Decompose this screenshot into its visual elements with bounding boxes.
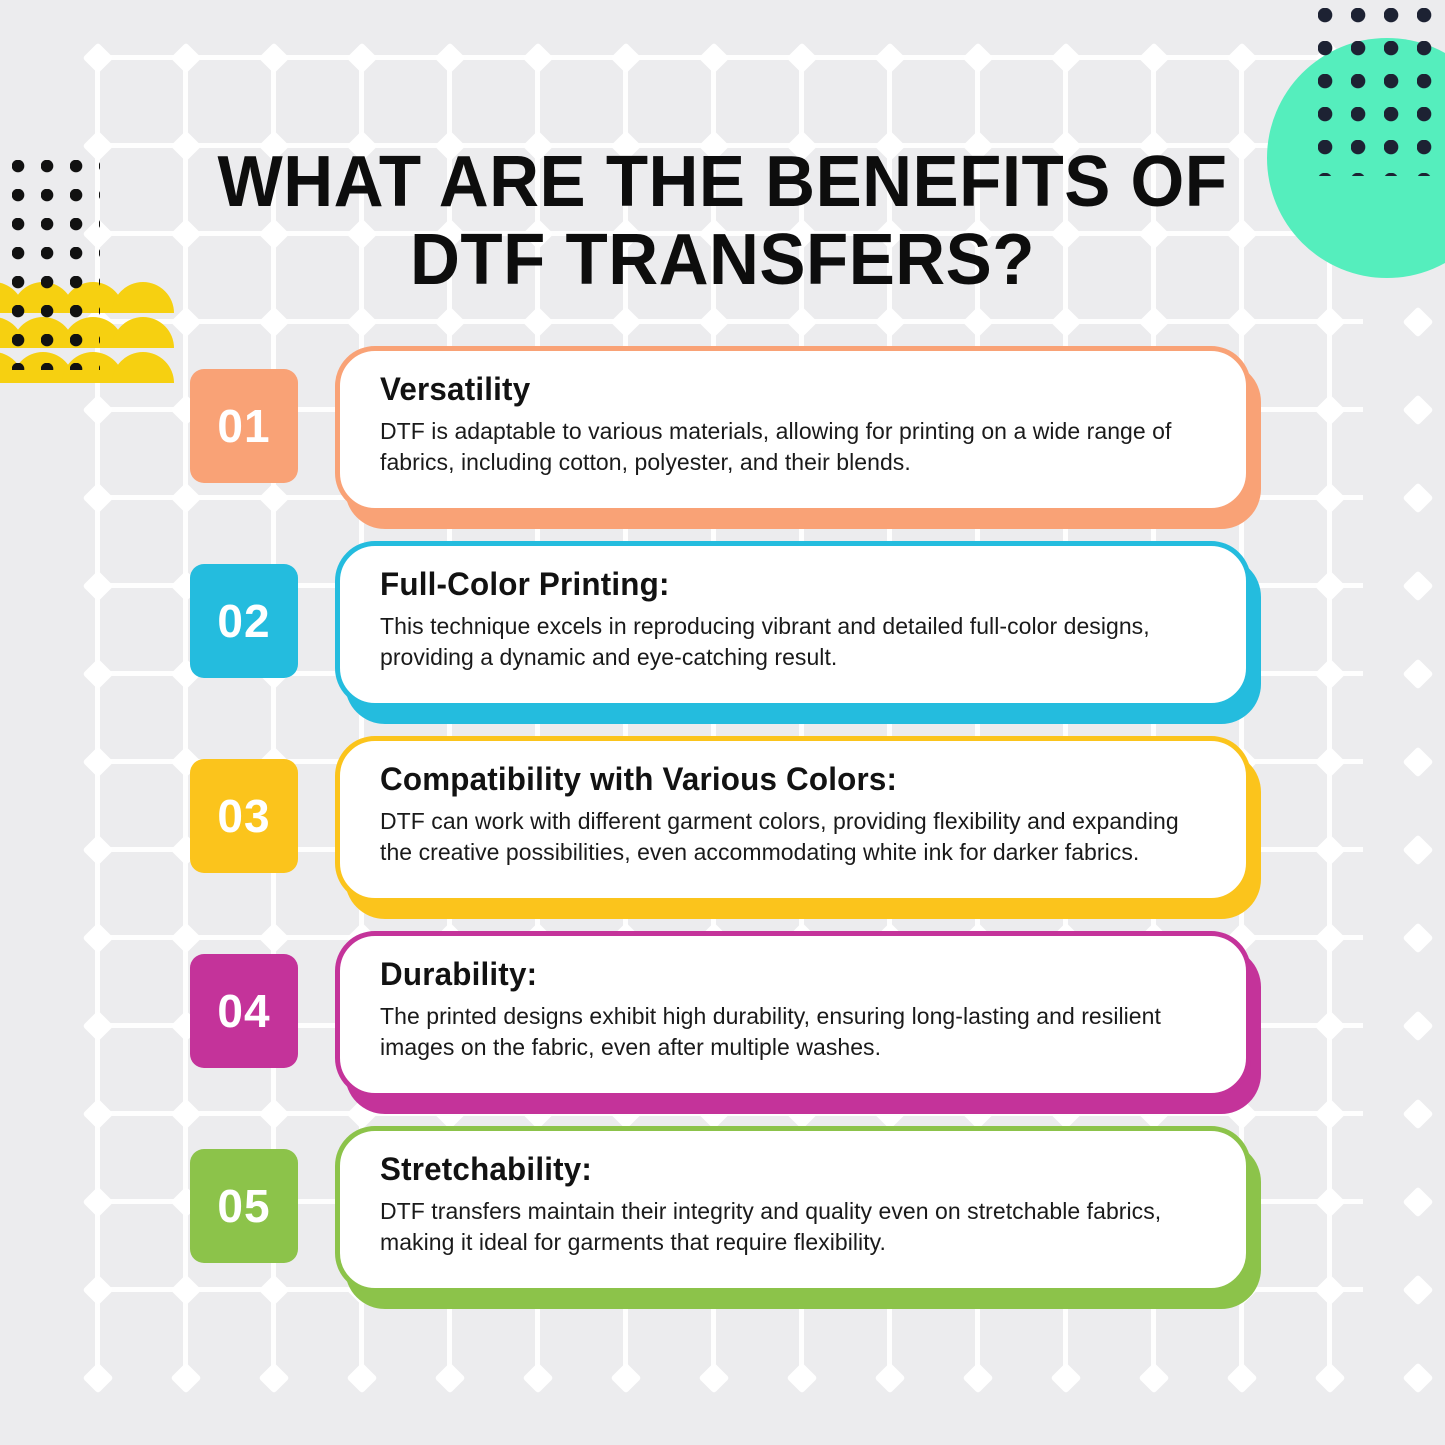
grid-node-diamond	[698, 1362, 729, 1393]
benefit-heading: Durability:	[380, 956, 1195, 993]
grid-node-diamond	[434, 1362, 465, 1393]
benefit-heading: Versatility	[380, 371, 1195, 408]
benefit-heading: Full-Color Printing:	[380, 566, 1195, 603]
grid-node-diamond	[1314, 1362, 1345, 1393]
dome-shape	[112, 282, 174, 313]
grid-node-diamond	[1402, 306, 1433, 337]
benefit-row: 03Compatibility with Various Colors:DTF …	[0, 730, 1445, 925]
grid-node-diamond	[82, 1362, 113, 1393]
grid-node-diamond	[522, 306, 553, 337]
benefit-row: 05Stretchability:DTF transfers maintain …	[0, 1120, 1445, 1315]
grid-node-diamond	[1050, 42, 1081, 73]
grid-node-diamond	[962, 306, 993, 337]
grid-node-diamond	[170, 1362, 201, 1393]
grid-node-diamond	[610, 306, 641, 337]
grid-node-diamond	[874, 42, 905, 73]
benefit-number-badge: 02	[190, 564, 298, 678]
benefit-number-badge: 01	[190, 369, 298, 483]
grid-node-diamond	[874, 1362, 905, 1393]
dot-grid-top-right-decoration	[1318, 8, 1445, 176]
grid-node-diamond	[1314, 306, 1345, 337]
grid-node-diamond	[610, 42, 641, 73]
benefit-row: 04Durability:The printed designs exhibit…	[0, 925, 1445, 1120]
benefit-body: DTF transfers maintain their integrity a…	[380, 1196, 1212, 1258]
benefit-card: Stretchability:DTF transfers maintain th…	[335, 1126, 1251, 1293]
benefit-heading: Compatibility with Various Colors:	[380, 761, 1195, 798]
grid-node-diamond	[1226, 306, 1257, 337]
grid-node-diamond	[610, 1362, 641, 1393]
benefit-body: DTF can work with different garment colo…	[380, 806, 1212, 868]
benefit-number-badge: 03	[190, 759, 298, 873]
grid-node-diamond	[1402, 1362, 1433, 1393]
benefits-list: 01VersatilityDTF is adaptable to various…	[0, 340, 1445, 1315]
benefit-number-badge: 04	[190, 954, 298, 1068]
benefit-body: This technique excels in reproducing vib…	[380, 611, 1212, 673]
page-title: WHAT ARE THE BENEFITS OF DTF TRANSFERS?	[197, 143, 1248, 299]
grid-node-diamond	[346, 42, 377, 73]
grid-node-diamond	[962, 1362, 993, 1393]
infographic-poster: WHAT ARE THE BENEFITS OF DTF TRANSFERS? …	[0, 0, 1445, 1445]
grid-node-diamond	[1138, 1362, 1169, 1393]
grid-node-diamond	[874, 306, 905, 337]
grid-node-diamond	[698, 306, 729, 337]
grid-node-diamond	[170, 42, 201, 73]
benefit-card: Full-Color Printing:This technique excel…	[335, 541, 1251, 708]
grid-node-diamond	[1138, 306, 1169, 337]
grid-node-diamond	[1050, 1362, 1081, 1393]
benefit-card: Compatibility with Various Colors:DTF ca…	[335, 736, 1251, 903]
grid-node-diamond	[82, 130, 113, 161]
grid-node-diamond	[522, 1362, 553, 1393]
grid-node-diamond	[346, 306, 377, 337]
benefit-card: Durability:The printed designs exhibit h…	[335, 931, 1251, 1098]
grid-node-diamond	[258, 42, 289, 73]
grid-node-diamond	[346, 1362, 377, 1393]
grid-node-diamond	[786, 42, 817, 73]
grid-node-diamond	[786, 306, 817, 337]
benefit-row: 02Full-Color Printing:This technique exc…	[0, 535, 1445, 730]
benefit-row: 01VersatilityDTF is adaptable to various…	[0, 340, 1445, 535]
grid-node-diamond	[170, 306, 201, 337]
grid-node-diamond	[1226, 1362, 1257, 1393]
grid-node-diamond	[258, 306, 289, 337]
grid-node-diamond	[434, 42, 465, 73]
grid-node-diamond	[434, 306, 465, 337]
grid-node-diamond	[1138, 42, 1169, 73]
benefit-body: The printed designs exhibit high durabil…	[380, 1001, 1212, 1063]
grid-node-diamond	[82, 42, 113, 73]
grid-node-diamond	[258, 1362, 289, 1393]
grid-node-diamond	[962, 42, 993, 73]
benefit-body: DTF is adaptable to various materials, a…	[380, 416, 1212, 478]
benefit-card: VersatilityDTF is adaptable to various m…	[335, 346, 1251, 513]
benefit-heading: Stretchability:	[380, 1151, 1195, 1188]
dot-grid-left-decoration	[12, 160, 100, 370]
grid-node-diamond	[1226, 42, 1257, 73]
grid-node-diamond	[522, 42, 553, 73]
grid-node-diamond	[786, 1362, 817, 1393]
grid-node-diamond	[1050, 306, 1081, 337]
grid-node-diamond	[698, 42, 729, 73]
benefit-number-badge: 05	[190, 1149, 298, 1263]
